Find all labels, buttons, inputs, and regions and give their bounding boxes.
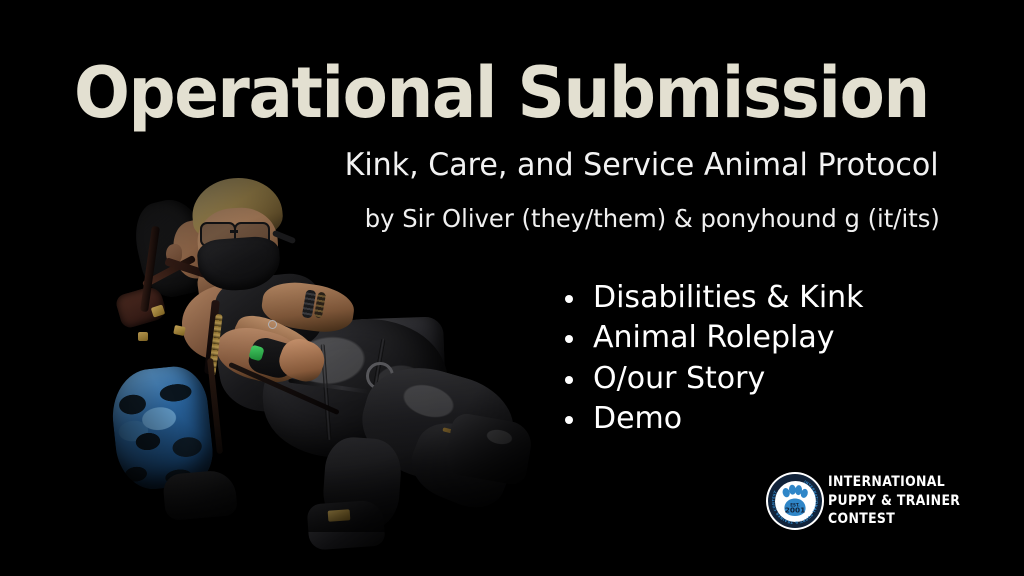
badge-artwork: INTERNATIONAL PUPPY & TRAINER CONTEST ES… — [766, 472, 824, 530]
bullet-dot-icon — [565, 295, 573, 303]
list-item-label: Demo — [593, 401, 682, 436]
bullet-dot-icon — [565, 335, 573, 343]
logo-wordmark-line-3: CONTEST — [828, 510, 960, 529]
slide-byline: by Sir Oliver (they/them) & ponyhound g … — [15, 204, 985, 234]
list-item: Disabilities & Kink — [562, 282, 864, 314]
presentation-slide: Operational Submission Kink, Care, and S… — [0, 0, 1024, 576]
list-item: O/our Story — [562, 363, 864, 395]
logo-wordmark-line-2: PUPPY & TRAINER — [828, 492, 960, 511]
photo-boot-buckle — [328, 509, 351, 522]
photo-upper-figure-foot — [306, 499, 385, 550]
photo-buckle — [138, 332, 148, 341]
photo-finger-ring — [268, 320, 277, 329]
paw-badge-icon: INTERNATIONAL PUPPY & TRAINER CONTEST ES… — [766, 472, 824, 530]
ipt-contest-logo: INTERNATIONAL PUPPY & TRAINER CONTEST ES… — [766, 470, 986, 536]
photo-buckle — [151, 304, 166, 317]
slide-title: Operational Submission — [74, 58, 901, 128]
list-item-label: Disabilities & Kink — [593, 280, 864, 315]
bullet-dot-icon — [565, 416, 573, 424]
agenda-list: Disabilities & Kink Animal Roleplay O/ou… — [562, 282, 864, 444]
list-item-label: O/our Story — [593, 361, 765, 396]
photo-lower-figure-boot — [162, 469, 238, 521]
list-item: Demo — [562, 403, 864, 435]
slide-subtitle: Kink, Care, and Service Animal Protocol — [15, 148, 985, 184]
list-item-label: Animal Roleplay — [593, 320, 835, 355]
slide-subtitle-text: Kink, Care, and Service Animal Protocol — [345, 148, 939, 184]
slide-byline-text: by Sir Oliver (they/them) & ponyhound g … — [365, 204, 940, 234]
photo-buckle — [173, 325, 186, 336]
bullet-dot-icon — [565, 376, 573, 384]
logo-wordmark: INTERNATIONAL PUPPY & TRAINER CONTEST — [828, 473, 960, 529]
badge-year-label: 2001 — [785, 506, 806, 515]
list-item: Animal Roleplay — [562, 322, 864, 354]
logo-wordmark-line-1: INTERNATIONAL — [828, 473, 960, 492]
